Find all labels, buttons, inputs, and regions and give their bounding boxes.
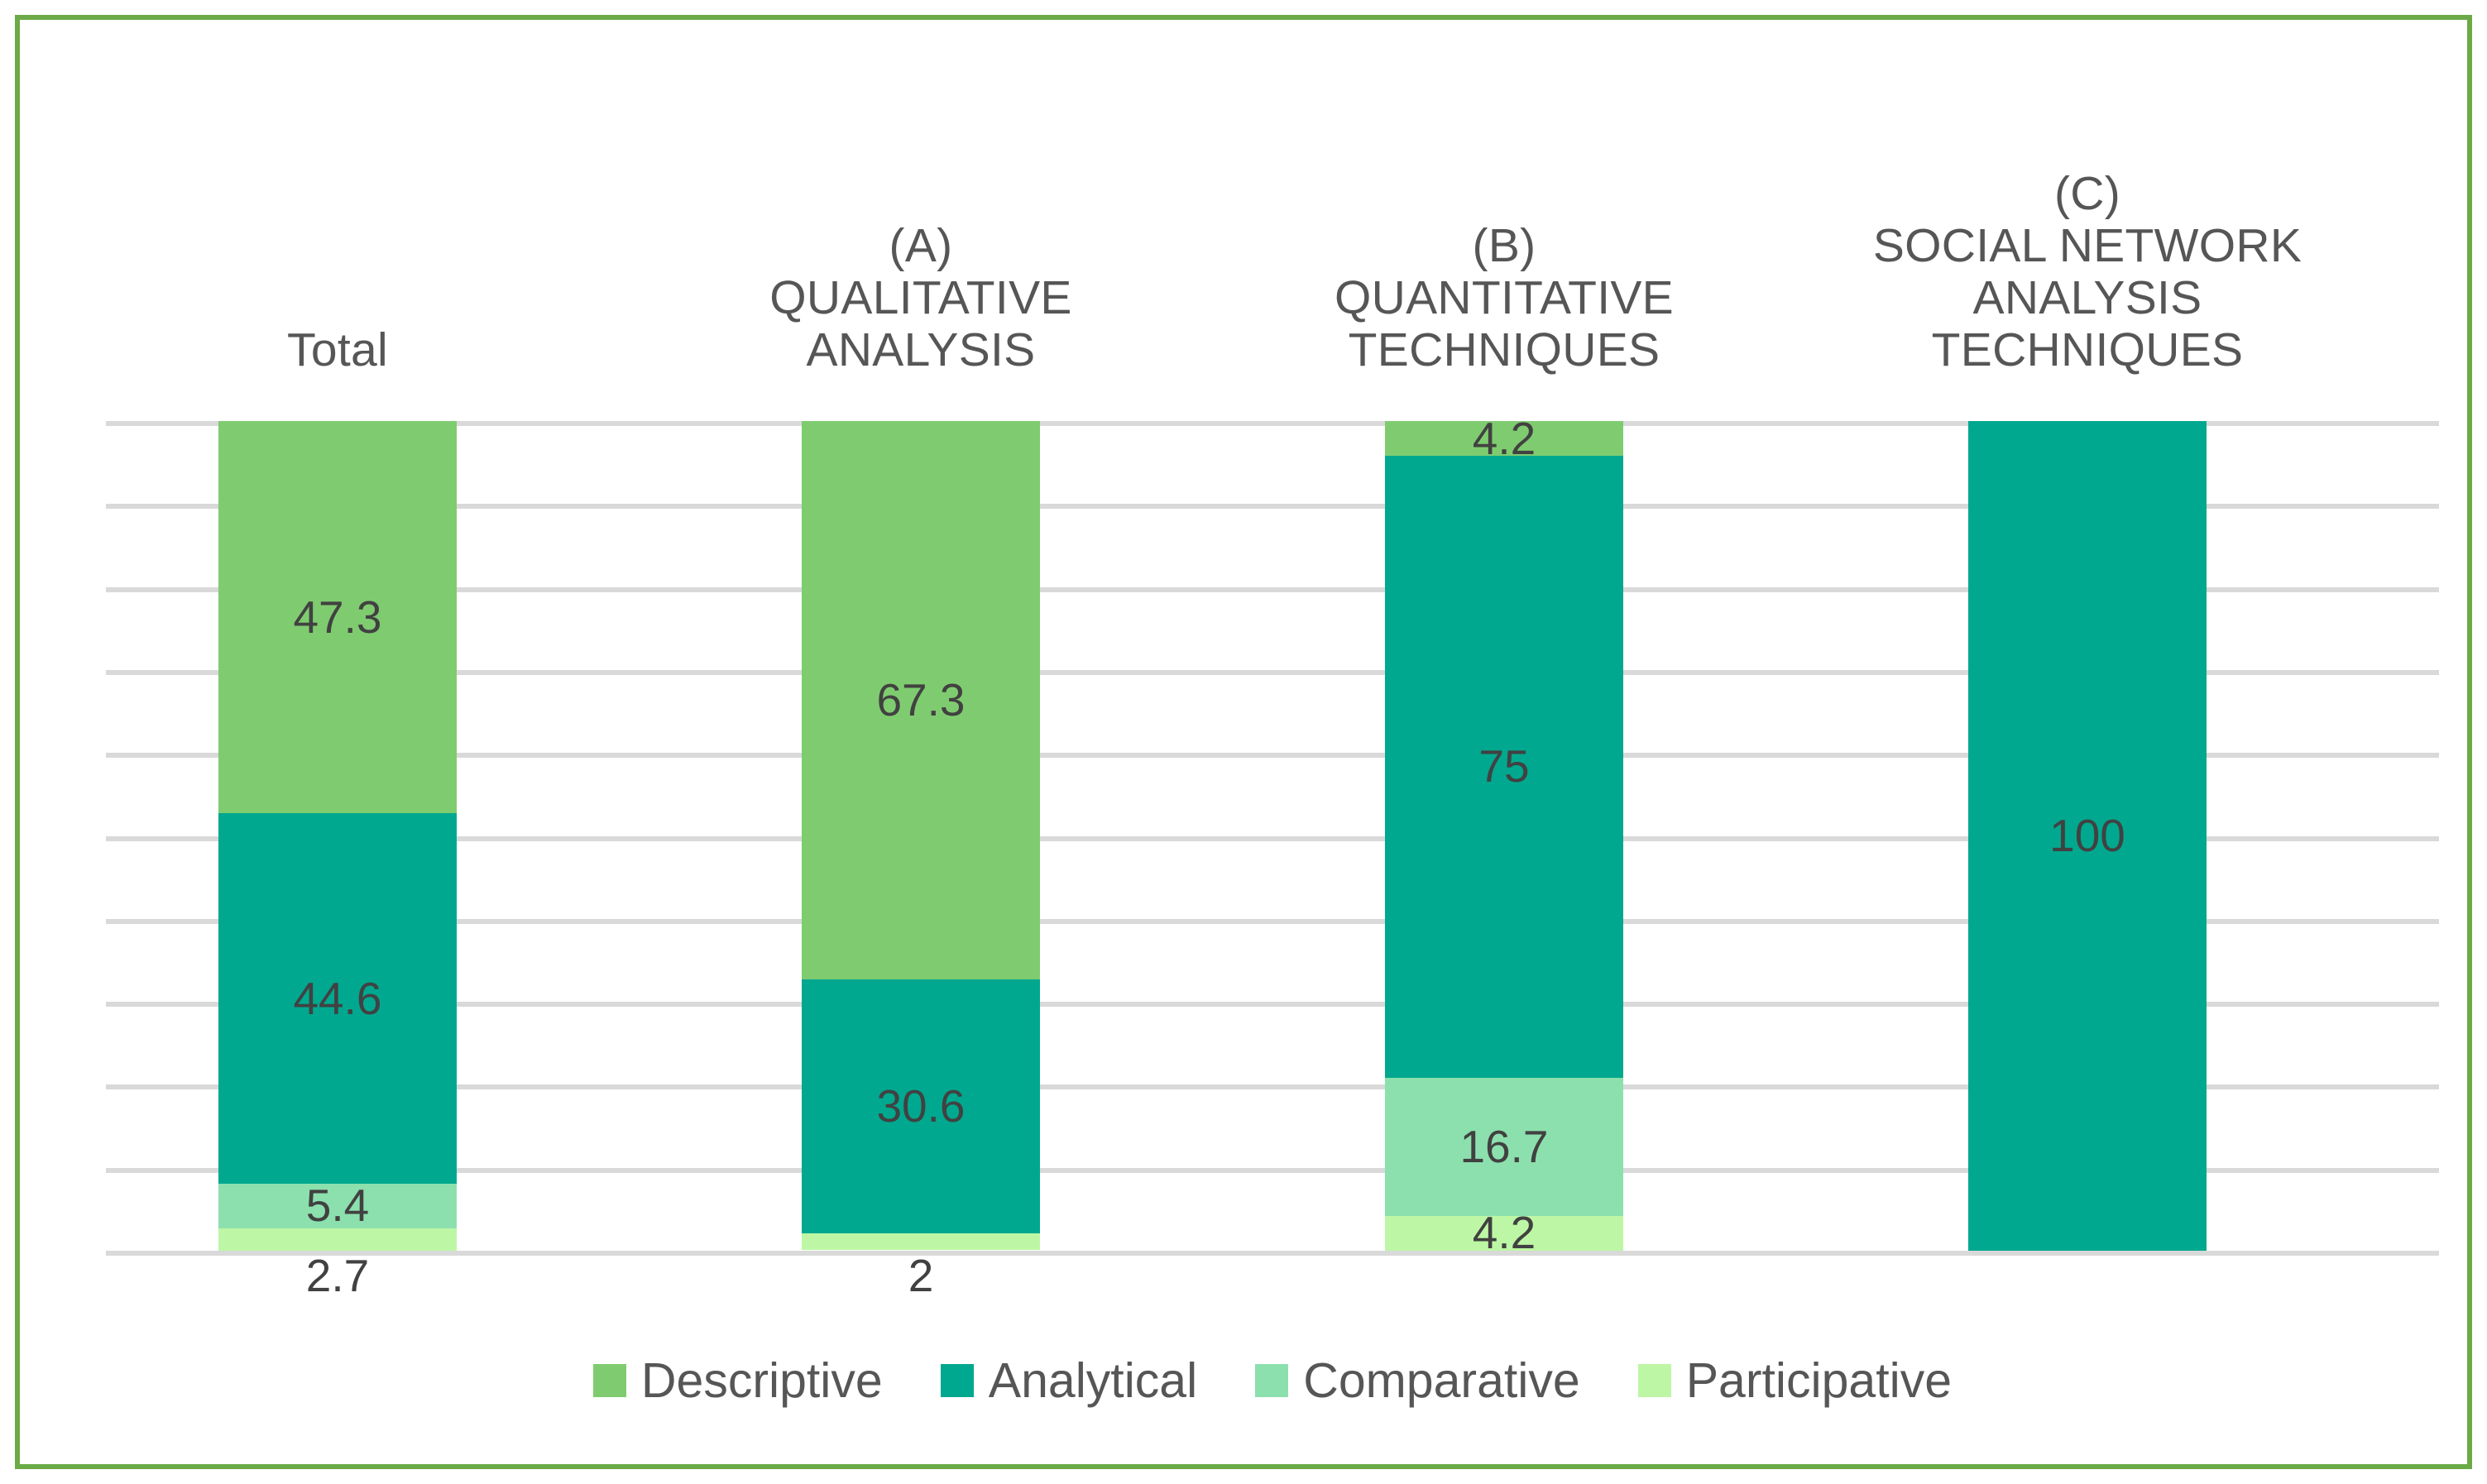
legend-label: Descriptive <box>641 1355 883 1406</box>
bar-segment-analytical[interactable]: 44.6 <box>218 813 457 1183</box>
plot-area: 47.344.65.42.767.330.624.27516.74.2100 <box>106 406 2439 1251</box>
legend-swatch-icon <box>1638 1364 1671 1397</box>
legend-item-analytical[interactable]: Analytical <box>941 1355 1198 1406</box>
bar-group: 100 <box>1856 421 2319 1251</box>
segment-value-label-below-axis: 2.7 <box>106 1253 569 1299</box>
category-header-row: Total(A) QUALITATIVE ANALYSIS(B) QUANTIT… <box>106 20 2439 406</box>
stacked-bar[interactable]: 100 <box>1968 421 2207 1251</box>
segment-value-label: 47.3 <box>293 595 381 640</box>
legend-label: Analytical <box>989 1355 1198 1406</box>
legend-swatch-icon <box>941 1364 974 1397</box>
segment-value-label-below-axis: 2 <box>689 1253 1152 1299</box>
category-header-a-qualitative-analysis: (A) QUALITATIVE ANALYSIS <box>689 220 1152 376</box>
category-header-b-quantitative-techniques: (B) QUANTITATIVE TECHNIQUES <box>1272 220 1736 376</box>
segment-value-label: 4.2 <box>1473 416 1536 462</box>
chart-legend: DescriptiveAnalyticalComparativeParticip… <box>106 1343 2439 1418</box>
chart-frame: Total(A) QUALITATIVE ANALYSIS(B) QUANTIT… <box>15 15 2472 1469</box>
segment-value-label: 67.3 <box>876 677 965 723</box>
segment-value-label: 16.7 <box>1459 1124 1548 1170</box>
legend-item-comparative[interactable]: Comparative <box>1255 1355 1579 1406</box>
legend-label: Participative <box>1686 1355 1952 1406</box>
bar-segment-analytical[interactable]: 30.6 <box>802 979 1040 1233</box>
category-header-c-social-network-analysis-techniques: (C) SOCIAL NETWORK ANALYSIS TECHNIQUES <box>1856 168 2319 376</box>
segment-value-label: 100 <box>2049 813 2125 859</box>
bar-group: 47.344.65.42.7 <box>106 421 569 1251</box>
bar-segment-descriptive[interactable]: 67.3 <box>802 421 1040 979</box>
bar-segment-comparative[interactable]: 5.4 <box>218 1184 457 1228</box>
stacked-bar[interactable]: 67.330.6 <box>802 421 1040 1251</box>
legend-swatch-icon <box>1255 1364 1288 1397</box>
segment-value-label: 5.4 <box>306 1183 369 1228</box>
legend-swatch-icon <box>593 1364 626 1397</box>
bar-segment-analytical[interactable]: 75 <box>1385 456 1623 1078</box>
segment-value-label: 30.6 <box>876 1084 965 1129</box>
category-header-total: Total <box>106 324 569 376</box>
bar-segment-descriptive[interactable]: 4.2 <box>1385 421 1623 456</box>
stacked-bar[interactable]: 4.27516.74.2 <box>1385 421 1623 1251</box>
segment-value-label: 75 <box>1478 744 1529 789</box>
bar-segment-comparative[interactable]: 16.7 <box>1385 1078 1623 1216</box>
legend-item-participative[interactable]: Participative <box>1638 1355 1952 1406</box>
legend-label: Comparative <box>1303 1355 1579 1406</box>
segment-value-label: 4.2 <box>1473 1210 1536 1256</box>
bar-segment-participative[interactable] <box>802 1233 1040 1250</box>
legend-item-descriptive[interactable]: Descriptive <box>593 1355 883 1406</box>
bar-group: 67.330.62 <box>689 421 1152 1251</box>
bar-segment-participative[interactable] <box>218 1228 457 1251</box>
bar-segment-participative[interactable]: 4.2 <box>1385 1216 1623 1251</box>
bar-segment-analytical[interactable]: 100 <box>1968 421 2207 1251</box>
bar-group: 4.27516.74.2 <box>1272 421 1736 1251</box>
bar-segment-descriptive[interactable]: 47.3 <box>218 421 457 813</box>
stacked-bar[interactable]: 47.344.65.4 <box>218 421 457 1251</box>
segment-value-label: 44.6 <box>293 976 381 1022</box>
